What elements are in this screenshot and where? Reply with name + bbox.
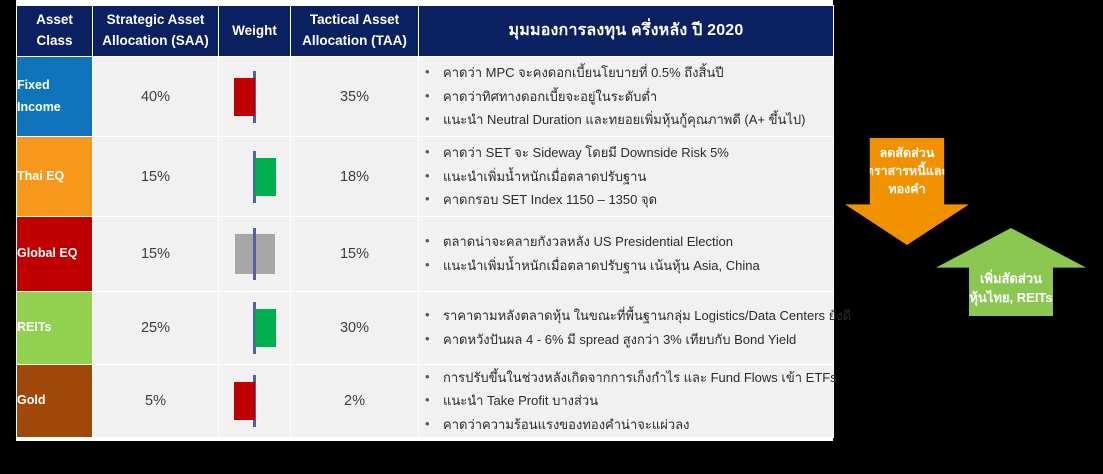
weight-block [255, 309, 276, 347]
weight-indicator-cell [219, 57, 291, 137]
bullet-item: คาดหวังปันผล 4 - 6% มี spread สูงกว่า 3%… [419, 328, 833, 352]
table-body: Fixed Income40%35%คาดว่า MPC จะคงดอกเบี้… [17, 57, 834, 438]
investment-view-cell: คาดว่า MPC จะคงดอกเบี้ยนโยบายที่ 0.5% ถึ… [419, 57, 834, 137]
asset-class-cell: Global EQ [17, 217, 93, 292]
investment-view-cell: การปรับขึ้นในช่วงหลังเกิดจากการเก็งกำไร … [419, 365, 834, 438]
callout-increase-line-2: หุ้นไทย, REITs [969, 289, 1052, 308]
weight-indicator-cell [219, 137, 291, 217]
bullet-item: ราคาตามหลังตลาดหุ้น ในขณะที่พื้นฐานกลุ่ม… [419, 304, 833, 328]
header-row: Asset Class Strategic Asset Allocation (… [17, 6, 834, 57]
callout-decrease-line-1: ลดสัดส่วน [866, 144, 948, 162]
bullet-item: คาดว่า SET จะ Sideway โดยมี Downside Ris… [419, 141, 833, 165]
bullet-list: คาดว่า MPC จะคงดอกเบี้ยนโยบายที่ 0.5% ถึ… [419, 61, 833, 132]
taa-value-cell: 15% [291, 217, 419, 292]
callout-decrease-arrow: ลดสัดส่วน ตราสารหนี้และ ทองคำ [845, 138, 969, 245]
weight-indicator-cell [219, 365, 291, 438]
callout-increase-line-1: เพิ่มสัดส่วน [969, 270, 1052, 289]
column-header-saa: Strategic Asset Allocation (SAA) [93, 6, 219, 57]
weight-block [234, 382, 255, 420]
weight-indicator-cell [219, 292, 291, 365]
saa-value-cell: 5% [93, 365, 219, 438]
weight-baseline [253, 228, 256, 280]
asset-class-cell: REITs [17, 292, 93, 365]
investment-view-cell: ตลาดน่าจะคลายกังวลหลัง US Presidential E… [419, 217, 834, 292]
weight-indicator-cell [219, 217, 291, 292]
asset-class-cell: Thai EQ [17, 137, 93, 217]
asset-allocation-table: Asset Class Strategic Asset Allocation (… [16, 5, 834, 438]
asset-class-cell: Fixed Income [17, 57, 93, 137]
asset-class-cell: Gold [17, 365, 93, 438]
bullet-list: คาดว่า SET จะ Sideway โดยมี Downside Ris… [419, 141, 833, 212]
taa-value-cell: 30% [291, 292, 419, 365]
bullet-item: คาดกรอบ SET Index 1150 – 1350 จุด [419, 188, 833, 212]
slide-canvas: Asset Class Strategic Asset Allocation (… [0, 0, 1103, 474]
column-header-weight: Weight [219, 6, 291, 57]
bullet-item: แนะนำ Take Profit บางส่วน [419, 389, 833, 413]
bullet-item: แนะนำ Neutral Duration และทยอยเพิ่มหุ้นก… [419, 108, 833, 132]
bullet-item: คาดว่าความร้อนแรงของทองคำน่าจะแผ่วลง [419, 413, 833, 437]
callout-increase-arrow: เพิ่มสัดส่วน หุ้นไทย, REITs [936, 228, 1086, 316]
column-header-investment-view: มุมมองการลงทุน ครึ่งหลัง ปี 2020 [419, 6, 834, 57]
bullet-item: ตลาดน่าจะคลายกังวลหลัง US Presidential E… [419, 230, 833, 254]
bullet-list: ราคาตามหลังตลาดหุ้น ในขณะที่พื้นฐานกลุ่ม… [419, 304, 833, 351]
saa-value-cell: 15% [93, 137, 219, 217]
column-header-taa: Tactical Asset Allocation (TAA) [291, 6, 419, 57]
weight-block [255, 158, 276, 196]
bullet-item: แนะนำเพิ่มน้ำหนักเมื่อตลาดปรับฐาน เน้นหุ… [419, 254, 833, 278]
taa-value-cell: 18% [291, 137, 419, 217]
table-row: Global EQ15%15%ตลาดน่าจะคลายกังวลหลัง US… [17, 217, 834, 292]
bullet-item: การปรับขึ้นในช่วงหลังเกิดจากการเก็งกำไร … [419, 366, 833, 390]
table-row: REITs25%30%ราคาตามหลังตลาดหุ้น ในขณะที่พ… [17, 292, 834, 365]
investment-view-cell: ราคาตามหลังตลาดหุ้น ในขณะที่พื้นฐานกลุ่ม… [419, 292, 834, 365]
table-header: Asset Class Strategic Asset Allocation (… [17, 6, 834, 57]
taa-value-cell: 2% [291, 365, 419, 438]
bullet-item: คาดว่าทิศทางดอกเบี้ยจะอยู่ในระดับต่ำ [419, 85, 833, 109]
table-row: Thai EQ15%18%คาดว่า SET จะ Sideway โดยมี… [17, 137, 834, 217]
saa-value-cell: 15% [93, 217, 219, 292]
table-row: Gold5%2%การปรับขึ้นในช่วงหลังเกิดจากการเ… [17, 365, 834, 438]
callout-decrease-line-2: ตราสารหนี้และ [866, 162, 948, 180]
saa-value-cell: 40% [93, 57, 219, 137]
column-header-asset-class: Asset Class [17, 6, 93, 57]
weight-block [234, 78, 255, 116]
bullet-list: ตลาดน่าจะคลายกังวลหลัง US Presidential E… [419, 230, 833, 277]
investment-view-cell: คาดว่า SET จะ Sideway โดยมี Downside Ris… [419, 137, 834, 217]
taa-value-cell: 35% [291, 57, 419, 137]
callout-decrease-line-3: ทองคำ [866, 180, 948, 198]
bullet-item: คาดว่า MPC จะคงดอกเบี้ยนโยบายที่ 0.5% ถึ… [419, 61, 833, 85]
bullet-list: การปรับขึ้นในช่วงหลังเกิดจากการเก็งกำไร … [419, 366, 833, 437]
table-row: Fixed Income40%35%คาดว่า MPC จะคงดอกเบี้… [17, 57, 834, 137]
saa-value-cell: 25% [93, 292, 219, 365]
bullet-item: แนะนำเพิ่มน้ำหนักเมื่อตลาดปรับฐาน [419, 165, 833, 189]
